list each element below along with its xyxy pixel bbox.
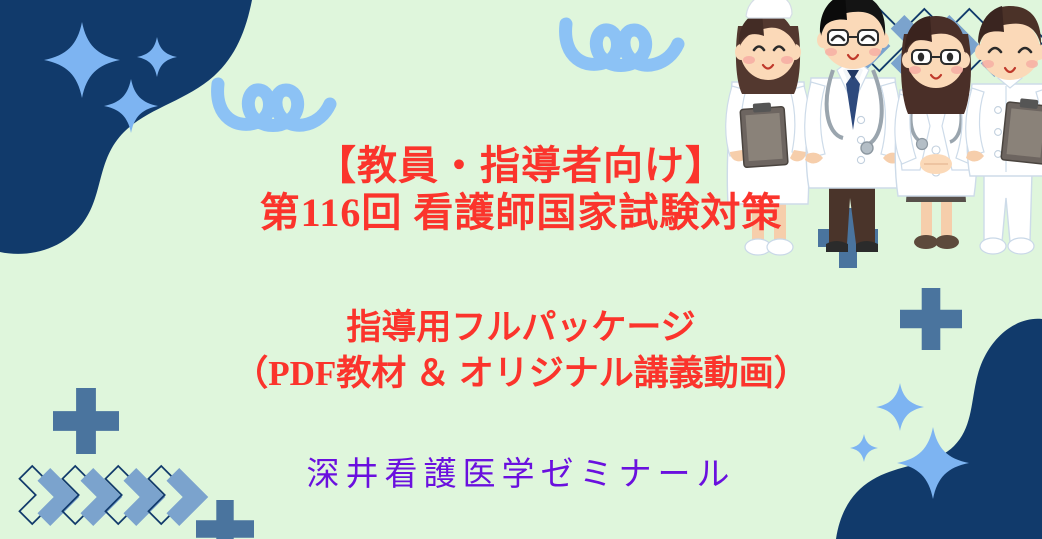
cross-left-middle <box>53 388 119 454</box>
subhead-line-1: 指導用フルパッケージ <box>71 305 971 351</box>
figure-doctor-female <box>895 16 977 249</box>
chevron-fill-8 <box>166 468 208 526</box>
chevron-outline-2 <box>911 9 956 71</box>
chevron-outline-8 <box>148 466 190 524</box>
cross-top-right <box>900 288 962 350</box>
sparkle-medium-top-left <box>104 79 158 133</box>
squiggle-top-left <box>218 84 330 126</box>
chevron-outline-5 <box>19 466 61 524</box>
sparkle-large-top-left <box>44 22 120 98</box>
cross-center-figures <box>818 208 878 268</box>
figure-nurse-male <box>966 6 1042 254</box>
chevron-row-bottom-left <box>19 466 208 526</box>
chevron-outline-1 <box>866 9 911 71</box>
background-fill <box>0 0 1042 539</box>
squiggle-top-center <box>566 24 678 66</box>
chevron-fill-4 <box>981 15 1026 77</box>
chevron-fill-3 <box>936 15 981 77</box>
headline-line-2: 第116回 看護師国家試験対策 <box>111 189 931 236</box>
medical-staff-illustration <box>0 0 1042 539</box>
chevron-fill-6 <box>80 468 122 526</box>
poster-text-layer: 【教員・指導者向け】 第116回 看護師国家試験対策 指導用フルパッケージ （P… <box>0 0 1042 539</box>
decorative-background <box>0 0 1042 539</box>
sparkle-large-bottom-right <box>897 427 969 499</box>
subtitle: 指導用フルパッケージ （PDF教材 ＆ オリジナル講義動画） <box>71 305 971 396</box>
figure-doctor-male <box>805 0 902 252</box>
subhead-line-2: （PDF教材 ＆ オリジナル講義動画） <box>71 351 971 397</box>
brand-name: 深井看護医学ゼミナール <box>71 447 971 495</box>
chevron-fill-7 <box>123 468 165 526</box>
sparkle-tiny-bottom-right <box>850 434 878 462</box>
chevron-outline-3 <box>956 9 1001 71</box>
chevron-outline-6 <box>62 466 104 524</box>
headline-line-1: 【教員・指導者向け】 <box>111 142 931 189</box>
chevron-row-top-right <box>846 9 1042 77</box>
sparkle-medium-bottom-right <box>876 383 924 431</box>
navy-blob-bottom-right <box>836 319 1042 539</box>
figure-nurse-female <box>726 0 811 255</box>
chevron-fill-1 <box>846 15 891 77</box>
chevron-fill-5 <box>37 468 79 526</box>
page-title: 【教員・指導者向け】 第116回 看護師国家試験対策 <box>111 142 931 236</box>
navy-blob-top-left <box>0 0 252 254</box>
chevron-outline-4 <box>1001 9 1042 71</box>
chevron-outline-7 <box>105 466 147 524</box>
poster-canvas: 【教員・指導者向け】 第116回 看護師国家試験対策 指導用フルパッケージ （P… <box>0 0 1042 539</box>
sparkle-small-top-left <box>137 37 177 77</box>
cross-bottom-left <box>196 500 254 539</box>
chevron-fill-2 <box>891 15 936 77</box>
